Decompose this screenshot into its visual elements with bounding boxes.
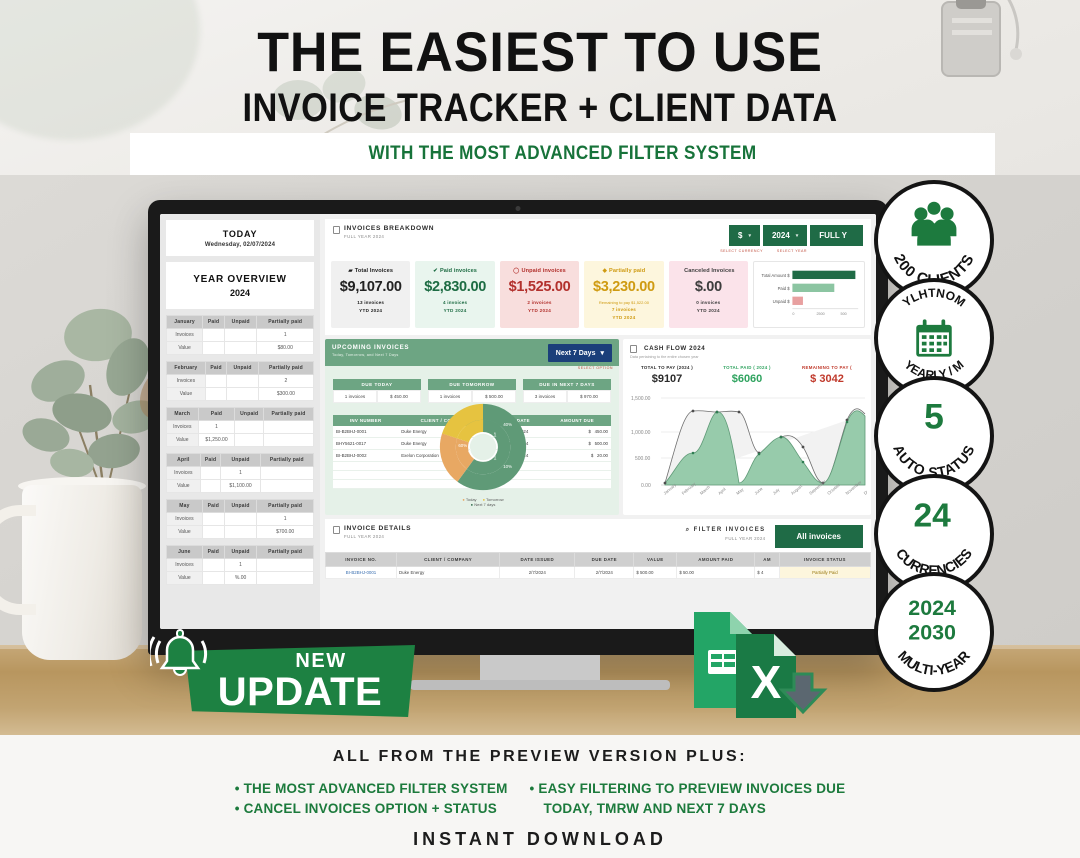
cell: $80.00 bbox=[257, 342, 314, 355]
table-row: Value$700.00 bbox=[167, 526, 314, 539]
hero-subtitle: WITH THE MOST ADVANCED FILTER SYSTEM bbox=[369, 143, 757, 165]
kpi-card-unpaid: ◯Unpaid invoices$1,525.002 invoicesYTD 2… bbox=[500, 261, 579, 328]
document-icon bbox=[333, 226, 340, 234]
cell bbox=[264, 421, 314, 434]
kpi-value: $2,830.00 bbox=[419, 279, 490, 295]
cell: %.00 bbox=[224, 572, 256, 585]
briefcase-icon: ▰ bbox=[348, 268, 352, 274]
upcoming-donut-chart: 60% 40% 10% 3 1 1 ● Today ● Tomorrow bbox=[439, 403, 527, 507]
cell-due: 2/7/2024 bbox=[575, 567, 634, 579]
monitor-base bbox=[410, 680, 670, 690]
cell bbox=[260, 480, 313, 493]
cell bbox=[257, 559, 314, 572]
month-col-header: Unpaid bbox=[235, 408, 264, 421]
webcam-icon bbox=[516, 206, 521, 211]
cell bbox=[202, 572, 224, 585]
due-chip-label: DUE TOMORROW bbox=[428, 379, 516, 390]
update-word-label: UPDATE bbox=[218, 672, 382, 712]
svg-text:2500: 2500 bbox=[817, 312, 825, 316]
table-row: Value$1,100.00 bbox=[167, 480, 314, 493]
donut-label-today: 40% bbox=[503, 422, 512, 427]
cell bbox=[203, 329, 225, 342]
month-col-header: Partially paid bbox=[257, 500, 314, 513]
kpi-period: YTD 2024 bbox=[673, 308, 744, 313]
cash-kpi: TOTAL PAID ( 2024 )$6060 bbox=[707, 365, 787, 385]
donut-label-next7: 60% bbox=[458, 443, 467, 448]
month-table: JunePaidUnpaidPartially paidInvoices1Val… bbox=[166, 545, 314, 585]
svg-text:YLHTNOM: YLHTNOM bbox=[900, 286, 968, 310]
cell bbox=[224, 513, 256, 526]
row-label: Value bbox=[167, 526, 203, 539]
search-icon: ⌕ bbox=[686, 527, 691, 533]
badge-year-from: 2024 bbox=[908, 596, 956, 620]
cell bbox=[202, 526, 224, 539]
cell bbox=[205, 388, 226, 401]
row-label: Invoices bbox=[167, 513, 203, 526]
cell bbox=[227, 375, 259, 388]
month-table: JanuaryPaidUnpaidPartially paidInvoices1… bbox=[166, 315, 314, 355]
column-header: AM bbox=[755, 553, 780, 567]
row-label: Invoices bbox=[167, 467, 201, 480]
kpi-period: YTD 2024 bbox=[504, 308, 575, 313]
chevron-down-icon: ▾ bbox=[748, 233, 751, 239]
month-col-header: Paid bbox=[200, 454, 221, 467]
cell bbox=[200, 467, 221, 480]
hero-header: THE EASIEST TO USE INVOICE TRACKER + CLI… bbox=[0, 0, 1080, 175]
column-header: INVOICE STATUS bbox=[779, 553, 870, 567]
table-row: Invoices1 bbox=[167, 513, 314, 526]
legend-next7: ● Next 7 days bbox=[439, 502, 527, 507]
today-title: TODAY bbox=[170, 229, 310, 239]
kpi-card-total: ▰Total Invoices$9,107.0013 invoicesYTD 2… bbox=[331, 261, 410, 328]
svg-text:Paid $: Paid $ bbox=[778, 286, 791, 291]
row-label: Invoices bbox=[167, 421, 199, 434]
cell bbox=[203, 342, 225, 355]
footer-item: • CANCEL INVOICES OPTION + STATUS bbox=[235, 799, 508, 819]
kpi-period: YTD 2024 bbox=[419, 308, 490, 313]
svg-text:0: 0 bbox=[792, 312, 794, 316]
month-table: MayPaidUnpaidPartially paidInvoices1Valu… bbox=[166, 499, 314, 539]
badge-multiyear-svg: 2024 2030 MULTI-YEAR bbox=[878, 576, 990, 688]
cell-amount: $ 500.00 bbox=[544, 438, 611, 450]
mid-row: UPCOMING INVOICES Today, Tomorrow, and N… bbox=[320, 339, 876, 515]
cell-amount: $ 20.00 bbox=[544, 450, 611, 462]
year-overview-title: YEAR OVERVIEW bbox=[170, 274, 310, 285]
monitor: TODAY Wednesday, 02/07/2024 YEAR OVERVIE… bbox=[148, 200, 888, 655]
row-label: Value bbox=[167, 572, 203, 585]
cash-kpi-label: TOTAL PAID ( 2024 ) bbox=[707, 365, 787, 370]
kpi-count: 13 invoices bbox=[335, 300, 406, 305]
cell-inv: BI-B2BHJ-0001 bbox=[333, 426, 398, 438]
kpi-count: 4 invoices bbox=[419, 300, 490, 305]
cash-flow-chart: 1,500.00 1,000.00 500.00 0.00 bbox=[623, 390, 871, 515]
month-table: AprilPaidUnpaidPartially paidInvoices1Va… bbox=[166, 453, 314, 493]
cell bbox=[202, 513, 224, 526]
cell bbox=[224, 526, 256, 539]
spreadsheet-screen: TODAY Wednesday, 02/07/2024 YEAR OVERVIE… bbox=[160, 214, 876, 629]
year-overview-year: 2024 bbox=[170, 288, 310, 298]
invoices-breakdown-panel: INVOICES BREAKDOWN FULL YEAR 2024 $ ▾ 20… bbox=[325, 219, 871, 335]
cell: $1,100.00 bbox=[221, 480, 260, 493]
month-table: FebruaryPaidUnpaidPartially paidInvoices… bbox=[166, 361, 314, 401]
ytick-500: 500.00 bbox=[635, 456, 651, 462]
cell: $300.00 bbox=[258, 388, 313, 401]
donut-label-tomorrow: 10% bbox=[503, 464, 512, 469]
currency-value: $ bbox=[738, 231, 742, 240]
cell bbox=[235, 434, 264, 447]
kpi-row: ▰Total Invoices$9,107.0013 invoicesYTD 2… bbox=[325, 257, 871, 335]
x-tick: June bbox=[753, 486, 764, 496]
cash-kpi: REMAINING TO PAY ($ 3042 bbox=[787, 365, 867, 385]
month-table: MarchPaidUnpaidPartially paidInvoices1Va… bbox=[166, 407, 314, 447]
cell-inv[interactable]: BI-B2BHJ-0001 bbox=[326, 567, 397, 579]
cell: 1 bbox=[257, 513, 314, 526]
cell-client: Duke Energy bbox=[397, 567, 500, 579]
status-badge: Partially Paid bbox=[779, 567, 870, 579]
due-chip-label: DUE TODAY bbox=[333, 379, 421, 390]
bell-icon bbox=[150, 625, 218, 691]
month-col-header: Partially paid bbox=[264, 408, 314, 421]
donut-inner-today: 1 bbox=[494, 432, 497, 438]
cash-kpi-label: TOTAL TO PAY (2024 ) bbox=[627, 365, 707, 370]
ytick-1500: 1,500.00 bbox=[631, 396, 651, 402]
column-header: INV NUMBER bbox=[333, 415, 398, 426]
breakdown-mini-chart: Total Amount $Paid $Unpaid $02500500 bbox=[753, 261, 865, 328]
due-chip-amount: $ 450.00 bbox=[377, 390, 421, 403]
year-select[interactable]: 2024 ▾ bbox=[763, 225, 807, 246]
badge-multiyear: 2024 2030 MULTI-YEAR bbox=[874, 572, 994, 692]
badge-status-value: 5 bbox=[924, 397, 944, 437]
kpi-period: YTD 2024 bbox=[588, 315, 659, 320]
today-date: Wednesday, 02/07/2024 bbox=[170, 242, 310, 248]
details-title: INVOICE DETAILS bbox=[344, 525, 411, 532]
excel-icon: X bbox=[736, 634, 796, 718]
svg-text:Total Amount $: Total Amount $ bbox=[762, 273, 791, 278]
row-label: Value bbox=[167, 434, 199, 447]
table-row: Invoices2 bbox=[167, 375, 314, 388]
table-row: BI-B2BHJ-0001Duke Energy2/7/20242/7/2024… bbox=[326, 567, 871, 579]
footer-item: • EASY FILTERING TO PREVIEW INVOICES DUE bbox=[530, 779, 846, 799]
kpi-count: 0 invoices bbox=[673, 300, 744, 305]
due-chip-count: 3 invoices bbox=[523, 390, 567, 403]
footer: ALL FROM THE PREVIEW VERSION PLUS: • THE… bbox=[0, 735, 1080, 858]
year-caption: SELECT YEAR bbox=[777, 249, 807, 253]
calendar-icon bbox=[916, 319, 951, 356]
hero-title-line1: THE EASIEST TO USE bbox=[38, 24, 1042, 80]
x-tick: July bbox=[772, 487, 782, 496]
invoice-details-table: INVOICE NO.CLIENT / COMPANYDATE ISSUEDDU… bbox=[325, 552, 871, 579]
circle-icon: ◯ bbox=[513, 268, 519, 274]
update-new-label: NEW bbox=[295, 651, 346, 671]
cell bbox=[200, 480, 221, 493]
month-col-header: Paid bbox=[202, 546, 224, 559]
table-row: Invoices1 bbox=[167, 559, 314, 572]
due-chip-count: 1 invoices bbox=[333, 390, 377, 403]
details-subtitle: FULL YEAR 2024 bbox=[344, 534, 411, 539]
year-overview-card: YEAR OVERVIEW 2024 bbox=[166, 262, 314, 309]
kpi-value: $1,525.00 bbox=[504, 279, 575, 295]
cash-flow-title: CASH FLOW 2024 bbox=[630, 344, 864, 353]
month-name: March bbox=[167, 408, 199, 421]
table-row: Value%.00 bbox=[167, 572, 314, 585]
kpi-card-cancel: Canceled Invoices$.000 invoicesYTD 2024 bbox=[669, 261, 748, 328]
hero-subtitle-band: WITH THE MOST ADVANCED FILTER SYSTEM bbox=[130, 133, 995, 175]
table-row: Value$80.00 bbox=[167, 342, 314, 355]
due-chip: DUE TOMORROW1 invoices$ 500.00 bbox=[428, 379, 516, 403]
month-col-header: Unpaid bbox=[225, 316, 257, 329]
cash-kpi-value: $6060 bbox=[707, 373, 787, 385]
svg-text:MULTI-YEAR: MULTI-YEAR bbox=[895, 647, 973, 678]
cash-kpi-value: $9107 bbox=[627, 373, 707, 385]
due-chip: DUE IN NEXT 7 DAYS3 invoices$ 970.00 bbox=[523, 379, 611, 403]
month-col-header: Partially paid bbox=[258, 362, 313, 375]
column-header: AMOUNT PAID bbox=[677, 553, 755, 567]
cell-value: $ 500.00 bbox=[634, 567, 677, 579]
svg-text:Unpaid $: Unpaid $ bbox=[773, 299, 791, 304]
chevron-down-icon: ▾ bbox=[600, 349, 604, 357]
upcoming-filter-value: Next 7 Days bbox=[556, 350, 596, 357]
sidebar-year-overview: TODAY Wednesday, 02/07/2024 YEAR OVERVIE… bbox=[160, 214, 320, 629]
cell bbox=[264, 434, 314, 447]
document-icon bbox=[333, 526, 340, 534]
chart-icon bbox=[630, 345, 637, 353]
cell-amount: $ 450.00 bbox=[544, 426, 611, 438]
upcoming-filter-select[interactable]: Next 7 Days ▾ bbox=[548, 344, 612, 362]
file-format-icons: X bbox=[690, 608, 830, 724]
row-label: Invoices bbox=[167, 375, 206, 388]
footer-col-1: • THE MOST ADVANCED FILTER SYSTEM • CANC… bbox=[235, 779, 508, 818]
x-tick: May bbox=[735, 486, 745, 495]
cell: $1,250.00 bbox=[198, 434, 235, 447]
row-label: Invoices bbox=[167, 559, 203, 572]
month-col-header: Partially paid bbox=[257, 546, 314, 559]
cell-remaining: $ 4 bbox=[755, 567, 780, 579]
kpi-value: $3,230.00 bbox=[588, 279, 659, 295]
month-col-header: Partially paid bbox=[257, 316, 314, 329]
cash-flow-svg: 1,500.00 1,000.00 500.00 0.00 bbox=[627, 390, 867, 508]
currency-caption: SELECT CURRENCY bbox=[720, 249, 763, 253]
kpi-card-partial: ◆Partially paid$3,230.00Remaining to pay… bbox=[584, 261, 663, 328]
dashboard-main: INVOICES BREAKDOWN FULL YEAR 2024 $ ▾ 20… bbox=[320, 214, 876, 629]
cell bbox=[257, 572, 314, 585]
month-col-header: Paid bbox=[202, 500, 224, 513]
upcoming-subtitle: Today, Tomorrow, and Next 7 Days bbox=[332, 353, 409, 357]
breakdown-header: INVOICES BREAKDOWN FULL YEAR 2024 $ ▾ 20… bbox=[325, 219, 871, 251]
year-value: 2024 bbox=[772, 231, 790, 240]
month-col-header: Unpaid bbox=[224, 500, 256, 513]
kpi-count: 2 invoices bbox=[504, 300, 575, 305]
cash-kpi: TOTAL TO PAY (2024 )$9107 bbox=[627, 365, 707, 385]
cash-kpi-label: REMAINING TO PAY ( bbox=[787, 365, 867, 370]
breakdown-subtitle: FULL YEAR 2024 bbox=[344, 234, 434, 239]
filter-invoices-label: ⌕ FILTER INVOICES bbox=[686, 527, 766, 534]
month-col-header: Paid bbox=[198, 408, 235, 421]
cell bbox=[260, 467, 313, 480]
filter-invoices-label-group[interactable]: ⌕ FILTER INVOICES FULL YEAR 2024 bbox=[686, 527, 766, 541]
table-row: Invoices1 bbox=[167, 421, 314, 434]
breakdown-title: INVOICES BREAKDOWN bbox=[344, 225, 434, 232]
ytick-0: 0.00 bbox=[641, 483, 651, 489]
vase bbox=[22, 485, 142, 660]
badge-year-to: 2030 bbox=[908, 620, 956, 644]
all-invoices-select[interactable]: All invoices bbox=[775, 525, 863, 548]
donut-svg: 60% 40% 10% 3 1 1 bbox=[439, 403, 527, 491]
svg-text:500: 500 bbox=[841, 312, 847, 316]
full-year-button[interactable]: FULL Y bbox=[810, 225, 863, 246]
row-label: Value bbox=[167, 342, 203, 355]
ytick-1000: 1,000.00 bbox=[631, 430, 651, 436]
cell-inv: BI-B2BHJ-0002 bbox=[333, 450, 398, 462]
month-col-header: Unpaid bbox=[224, 546, 256, 559]
column-header: CLIENT / COMPANY bbox=[397, 553, 500, 567]
x-tick: April bbox=[717, 487, 727, 496]
due-chip-amount: $ 970.00 bbox=[567, 390, 611, 403]
all-invoices-value: All invoices bbox=[797, 532, 841, 541]
filter-invoices-sub: FULL YEAR 2024 bbox=[686, 536, 766, 541]
upcoming-invoices-panel: UPCOMING INVOICES Today, Tomorrow, and N… bbox=[325, 339, 619, 515]
cell-inv: BHY5621-0017 bbox=[333, 438, 398, 450]
cell bbox=[202, 559, 224, 572]
kpi-note: Remaining to pay $1,522.00 bbox=[588, 300, 659, 305]
mini-bar-svg: Total Amount $Paid $Unpaid $02500500 bbox=[758, 267, 862, 317]
new-update-banner: NEW UPDATE bbox=[185, 645, 415, 717]
cell bbox=[225, 329, 257, 342]
cash-kpi-value: $ 3042 bbox=[787, 373, 867, 385]
kpi-label: Canceled Invoices bbox=[673, 268, 744, 274]
cell: 1 bbox=[221, 467, 260, 480]
kpi-label: ◯Unpaid invoices bbox=[504, 268, 575, 274]
month-name: June bbox=[167, 546, 203, 559]
vase-handle bbox=[0, 505, 36, 615]
column-header: AMOUNT DUE bbox=[544, 415, 611, 426]
month-col-header: Unpaid bbox=[227, 362, 259, 375]
kpi-count: 7 invoices bbox=[588, 307, 659, 312]
people-icon bbox=[912, 202, 957, 246]
cell: $700.00 bbox=[257, 526, 314, 539]
cell: 1 bbox=[224, 559, 256, 572]
column-header: INVOICE NO. bbox=[326, 553, 397, 567]
donut-inner-next7: 3 bbox=[468, 448, 471, 454]
kpi-card-paid: ✔Paid invoices$2,830.004 invoicesYTD 202… bbox=[415, 261, 494, 328]
kpi-label: ▰Total Invoices bbox=[335, 268, 406, 274]
details-header: INVOICE DETAILS FULL YEAR 2024 ⌕ FILTER … bbox=[325, 519, 871, 552]
column-header: VALUE bbox=[634, 553, 677, 567]
month-col-header: Partially paid bbox=[260, 454, 313, 467]
column-header: DATE ISSUED bbox=[500, 553, 575, 567]
month-name: May bbox=[167, 500, 203, 513]
diamond-icon: ◆ bbox=[603, 268, 607, 274]
cash-flow-kpis: TOTAL TO PAY (2024 )$9107TOTAL PAID ( 20… bbox=[623, 362, 871, 390]
kpi-value: $9,107.00 bbox=[335, 279, 406, 295]
table-row: Value$1,250.00 bbox=[167, 434, 314, 447]
month-col-header: Paid bbox=[205, 362, 226, 375]
x-tick: March bbox=[699, 484, 712, 496]
instant-download-label: INSTANT DOWNLOAD bbox=[0, 829, 1080, 850]
badge-multiyear-text: MULTI-YEAR bbox=[895, 647, 973, 678]
today-card: TODAY Wednesday, 02/07/2024 bbox=[166, 220, 314, 256]
invoice-details-panel: INVOICE DETAILS FULL YEAR 2024 ⌕ FILTER … bbox=[325, 519, 871, 579]
due-chip-label: DUE IN NEXT 7 DAYS bbox=[523, 379, 611, 390]
cash-flow-subtitle: Data pertaining to the entire chosen yea… bbox=[630, 355, 864, 359]
cell bbox=[205, 375, 226, 388]
footer-col-2: • EASY FILTERING TO PREVIEW INVOICES DUE… bbox=[530, 779, 846, 818]
full-year-label: FULL Y bbox=[819, 231, 847, 240]
row-label: Invoices bbox=[167, 329, 203, 342]
month-name: April bbox=[167, 454, 201, 467]
cell-issued: 2/7/2024 bbox=[500, 567, 575, 579]
month-name: January bbox=[167, 316, 203, 329]
table-row: Invoices1 bbox=[167, 329, 314, 342]
svg-text:X: X bbox=[751, 656, 782, 708]
footer-item: • THE MOST ADVANCED FILTER SYSTEM bbox=[235, 779, 508, 799]
cell-paid: $ 50.00 bbox=[677, 567, 755, 579]
footer-heading: ALL FROM THE PREVIEW VERSION PLUS: bbox=[0, 735, 1080, 766]
month-name: February bbox=[167, 362, 206, 375]
currency-select[interactable]: $ ▾ bbox=[729, 225, 760, 246]
upcoming-title: UPCOMING INVOICES bbox=[332, 344, 409, 351]
column-header: DUE DATE bbox=[575, 553, 634, 567]
kpi-label: ◆Partially paid bbox=[588, 268, 659, 274]
cash-flow-header: CASH FLOW 2024 Data pertaining to the en… bbox=[623, 339, 871, 362]
footer-columns: • THE MOST ADVANCED FILTER SYSTEM • CANC… bbox=[0, 779, 1080, 818]
row-label: Value bbox=[167, 388, 206, 401]
upcoming-header: UPCOMING INVOICES Today, Tomorrow, and N… bbox=[325, 339, 619, 366]
chevron-down-icon: ▾ bbox=[796, 233, 799, 239]
badge-currencies-value: 24 bbox=[913, 498, 951, 535]
cell: 2 bbox=[258, 375, 313, 388]
kpi-period: YTD 2024 bbox=[335, 308, 406, 313]
due-chip: DUE TODAY1 invoices$ 450.00 bbox=[333, 379, 421, 403]
row-label: Value bbox=[167, 480, 201, 493]
cash-flow-panel: CASH FLOW 2024 Data pertaining to the en… bbox=[623, 339, 871, 515]
table-row: Value$300.00 bbox=[167, 388, 314, 401]
table-row: Invoices1 bbox=[167, 467, 314, 480]
due-chip-count: 1 invoices bbox=[428, 390, 472, 403]
due-chips: DUE TODAY1 invoices$ 450.00DUE TOMORROW1… bbox=[325, 372, 619, 405]
month-col-header: Paid bbox=[203, 316, 225, 329]
kpi-value: $.00 bbox=[673, 279, 744, 295]
cell bbox=[235, 421, 264, 434]
cell: 1 bbox=[198, 421, 235, 434]
cell bbox=[225, 342, 257, 355]
kpi-label: ✔Paid invoices bbox=[419, 268, 490, 274]
footer-item: TODAY, TMRW AND NEXT 7 DAYS bbox=[530, 799, 846, 819]
due-chip-amount: $ 500.00 bbox=[472, 390, 516, 403]
month-tables-container: JanuaryPaidUnpaidPartially paidInvoices1… bbox=[166, 315, 314, 585]
hero-title-line2: INVOICE TRACKER + CLIENT DATA bbox=[76, 88, 1005, 128]
month-col-header: Unpaid bbox=[221, 454, 260, 467]
donut-inner-tomorrow: 1 bbox=[494, 455, 497, 461]
upcoming-filter-caption: SELECT OPTION bbox=[578, 366, 613, 370]
cell bbox=[227, 388, 259, 401]
cell: 1 bbox=[257, 329, 314, 342]
check-icon: ✔ bbox=[433, 268, 438, 274]
